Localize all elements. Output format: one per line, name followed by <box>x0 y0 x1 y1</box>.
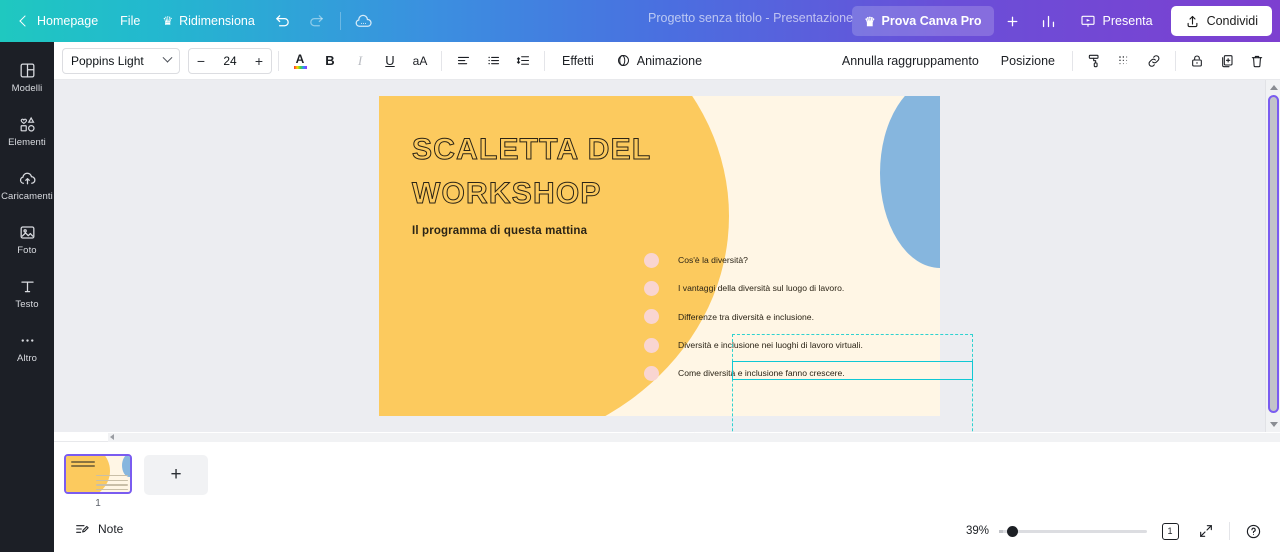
resize-button[interactable]: ♛ Ridimensiona <box>151 6 266 36</box>
bottom-panel: 1 + Note 39% 1 <box>54 441 1280 552</box>
position-button[interactable]: Posizione <box>992 48 1064 74</box>
bullet-text[interactable]: Differenze tra diversità e inclusione. <box>678 312 814 322</box>
undo-button[interactable] <box>268 6 298 36</box>
fullscreen-button[interactable] <box>1193 518 1219 544</box>
cloud-save-button[interactable] <box>349 6 379 36</box>
add-slide-button[interactable]: + <box>144 455 208 495</box>
text-t-icon <box>18 277 37 296</box>
bullet-list-icon <box>486 53 501 68</box>
font-size-stepper: − 24 + <box>188 48 272 74</box>
bullet-dot-icon <box>644 281 659 296</box>
bullet-dot-icon <box>644 366 659 381</box>
slide-title-line-1: SCALETTA DEL <box>412 128 651 172</box>
bullet-dot-icon <box>644 253 659 268</box>
sidebar-label-elementi: Elementi <box>8 137 46 148</box>
share-button[interactable]: Condividi <box>1171 6 1272 36</box>
font-family-select[interactable]: Poppins Light <box>62 48 180 74</box>
share-upload-icon <box>1185 14 1200 29</box>
copy-style-roller-icon <box>1086 53 1102 69</box>
canvas-horizontal-scrollbar[interactable] <box>108 433 1280 442</box>
link-button[interactable] <box>1141 48 1167 74</box>
font-color-letter: A <box>296 53 305 65</box>
slide-title-line-2: WORKSHOP <box>412 172 651 216</box>
effects-button[interactable]: Effetti <box>553 48 603 74</box>
crown-icon: ♛ <box>864 14 875 29</box>
letter-case-button[interactable]: aA <box>407 48 433 74</box>
line-spacing-icon <box>516 53 531 68</box>
toolbar-divider <box>1175 51 1176 71</box>
arrow-left-icon <box>110 434 114 440</box>
transparency-icon <box>1116 53 1132 69</box>
homepage-label: Homepage <box>37 14 98 28</box>
cloud-saving-icon <box>354 12 373 31</box>
homepage-button[interactable]: Homepage <box>10 6 109 36</box>
present-button[interactable]: Presenta <box>1068 6 1165 36</box>
list-item[interactable]: Come diversità e inclusione fanno cresce… <box>644 359 916 387</box>
notes-label: Note <box>98 522 123 536</box>
thumbnail-body-lines <box>96 475 128 494</box>
add-collaborator-icon <box>1004 13 1021 30</box>
bullet-dot-icon <box>644 309 659 324</box>
zoom-slider-handle[interactable] <box>1007 526 1018 537</box>
list-item[interactable]: Differenze tra diversità e inclusione. <box>644 303 916 331</box>
top-bar-left-group: Homepage File ♛ Ridimensiona <box>0 0 381 42</box>
scrollbar-thumb[interactable] <box>1268 95 1279 413</box>
photo-icon <box>18 223 37 242</box>
bullet-text[interactable]: Diversità e inclusione nei luoghi di lav… <box>678 340 863 350</box>
font-color-swatch: A <box>294 53 307 69</box>
elements-icon <box>18 115 37 134</box>
sidebar-item-caricamenti[interactable]: Caricamenti <box>0 158 54 212</box>
left-sidebar-rail: Modelli Elementi Caricamenti Foto <box>0 42 54 552</box>
delete-button[interactable] <box>1244 48 1270 74</box>
page-count-badge: 1 <box>1162 523 1179 540</box>
slide-canvas[interactable]: SCALETTA DEL WORKSHOP Il programma di qu… <box>379 96 940 416</box>
bullet-text[interactable]: Cos'è la diversità? <box>678 255 748 265</box>
zoom-slider[interactable] <box>999 523 1147 539</box>
bullet-list[interactable]: Cos'è la diversità? I vantaggi della div… <box>644 246 916 387</box>
zoom-divider <box>1229 522 1230 540</box>
font-family-value: Poppins Light <box>71 54 144 68</box>
sidebar-item-altro[interactable]: Altro <box>0 320 54 374</box>
resize-label: Ridimensiona <box>179 14 255 28</box>
bold-button[interactable]: B <box>317 48 343 74</box>
underline-button[interactable]: U <box>377 48 403 74</box>
document-title[interactable]: Progetto senza titolo - Presentazione <box>648 11 853 25</box>
duplicate-button[interactable] <box>1214 48 1240 74</box>
lock-icon <box>1189 53 1205 69</box>
try-canva-pro-button[interactable]: ♛ Prova Canva Pro <box>852 6 993 36</box>
font-color-button[interactable]: A <box>287 48 313 74</box>
chevron-left-icon <box>19 15 30 26</box>
bullet-text[interactable]: Come diversità e inclusione fanno cresce… <box>678 368 845 378</box>
toolbar-divider <box>1072 51 1073 71</box>
lock-button[interactable] <box>1184 48 1210 74</box>
list-item[interactable]: Cos'è la diversità? <box>644 246 916 274</box>
expand-icon <box>1198 523 1214 539</box>
share-label: Condividi <box>1207 14 1258 28</box>
templates-icon <box>18 61 37 80</box>
scroll-up-button[interactable] <box>1266 80 1280 95</box>
present-label: Presenta <box>1103 14 1153 28</box>
duplicate-icon <box>1219 53 1235 69</box>
redo-button[interactable] <box>302 6 332 36</box>
zoom-controls: 39% 1 <box>961 518 1266 544</box>
insights-button[interactable] <box>1034 6 1064 36</box>
canva-editor-window: Homepage File ♛ Ridimensiona <box>0 0 1280 552</box>
file-label: File <box>120 14 140 28</box>
zoom-slider-tick <box>999 530 1003 533</box>
font-size-increase-button[interactable]: + <box>247 49 271 73</box>
thumbnail-title-lines <box>71 461 95 468</box>
canvas-area[interactable]: SCALETTA DEL WORKSHOP Il programma di qu… <box>54 80 1280 432</box>
toolbar-divider <box>278 51 279 71</box>
arrow-up-icon <box>1270 85 1278 90</box>
italic-button[interactable]: I <box>347 48 373 74</box>
zoom-slider-track <box>999 530 1147 533</box>
text-format-toolbar: Poppins Light − 24 + A B I U aA <box>54 42 1280 80</box>
thumbnail-blue-blob <box>122 454 132 477</box>
slide-thumbnail-wrapper: 1 <box>64 454 132 509</box>
toolbar-divider <box>441 51 442 71</box>
slide-thumbnail-1[interactable] <box>64 454 132 494</box>
top-bar: Homepage File ♛ Ridimensiona <box>0 0 1280 42</box>
ungroup-button[interactable]: Annulla raggruppamento <box>833 48 988 74</box>
undo-icon <box>274 13 291 30</box>
try-canva-pro-label: Prova Canva Pro <box>882 14 982 28</box>
arrow-down-icon <box>1270 422 1278 427</box>
slide-title[interactable]: SCALETTA DEL WORKSHOP <box>412 128 651 215</box>
list-item[interactable]: Diversità e inclusione nei luoghi di lav… <box>644 331 916 359</box>
animation-label: Animazione <box>637 54 702 68</box>
transparency-button[interactable] <box>1111 48 1137 74</box>
sidebar-label-testo: Testo <box>15 299 38 310</box>
crown-icon: ♛ <box>162 14 173 28</box>
scroll-down-button[interactable] <box>1266 417 1280 432</box>
insights-chart-icon <box>1040 13 1057 30</box>
toolbar-divider <box>340 12 341 30</box>
canvas-vertical-scrollbar[interactable] <box>1265 80 1280 432</box>
trash-icon <box>1249 53 1265 69</box>
redo-icon <box>308 13 325 30</box>
animation-icon <box>616 53 631 68</box>
copy-style-button[interactable] <box>1081 48 1107 74</box>
top-bar-right-group: ♛ Prova Canva Pro Presenta <box>852 0 1272 42</box>
link-icon <box>1146 53 1162 69</box>
font-size-decrease-button[interactable]: − <box>189 49 213 73</box>
color-gradient-bar <box>294 66 307 69</box>
bullet-text[interactable]: I vantaggi della diversità sul luogo di … <box>678 283 844 293</box>
sidebar-item-testo[interactable]: Testo <box>0 266 54 320</box>
toolbar-divider <box>544 51 545 71</box>
help-button[interactable] <box>1240 518 1266 544</box>
bullet-list-button[interactable] <box>480 48 506 74</box>
blue-blob-shape[interactable] <box>880 96 940 268</box>
sidebar-label-modelli: Modelli <box>12 83 43 94</box>
chevron-down-icon <box>163 53 173 63</box>
notes-button[interactable]: Note <box>68 517 129 541</box>
present-screen-icon <box>1080 13 1096 29</box>
uploads-cloud-icon <box>18 169 37 188</box>
align-left-icon <box>456 53 471 68</box>
notes-icon <box>74 521 90 537</box>
sidebar-label-altro: Altro <box>17 353 37 364</box>
font-size-value[interactable]: 24 <box>213 54 247 68</box>
help-question-icon <box>1245 523 1262 540</box>
zoom-percent-label: 39% <box>961 525 989 537</box>
text-align-button[interactable] <box>450 48 476 74</box>
animation-button[interactable]: Animazione <box>607 48 711 74</box>
slide-subtitle[interactable]: Il programma di questa mattina <box>412 225 587 237</box>
list-item[interactable]: I vantaggi della diversità sul luogo di … <box>644 274 916 302</box>
file-menu-button[interactable]: File <box>109 6 151 36</box>
add-collaborator-button[interactable] <box>998 6 1028 36</box>
line-spacing-button[interactable] <box>510 48 536 74</box>
sidebar-item-elementi[interactable]: Elementi <box>0 104 54 158</box>
sidebar-label-caricamenti: Caricamenti <box>1 191 53 202</box>
bullet-dot-icon <box>644 338 659 353</box>
more-dots-icon <box>18 331 37 350</box>
sidebar-item-modelli[interactable]: Modelli <box>0 50 54 104</box>
sidebar-label-foto: Foto <box>17 245 36 256</box>
page-view-button[interactable]: 1 <box>1157 518 1183 544</box>
slide-number-label: 1 <box>95 498 101 509</box>
sidebar-item-foto[interactable]: Foto <box>0 212 54 266</box>
slide-thumbnail-strip: 1 + <box>64 454 208 509</box>
